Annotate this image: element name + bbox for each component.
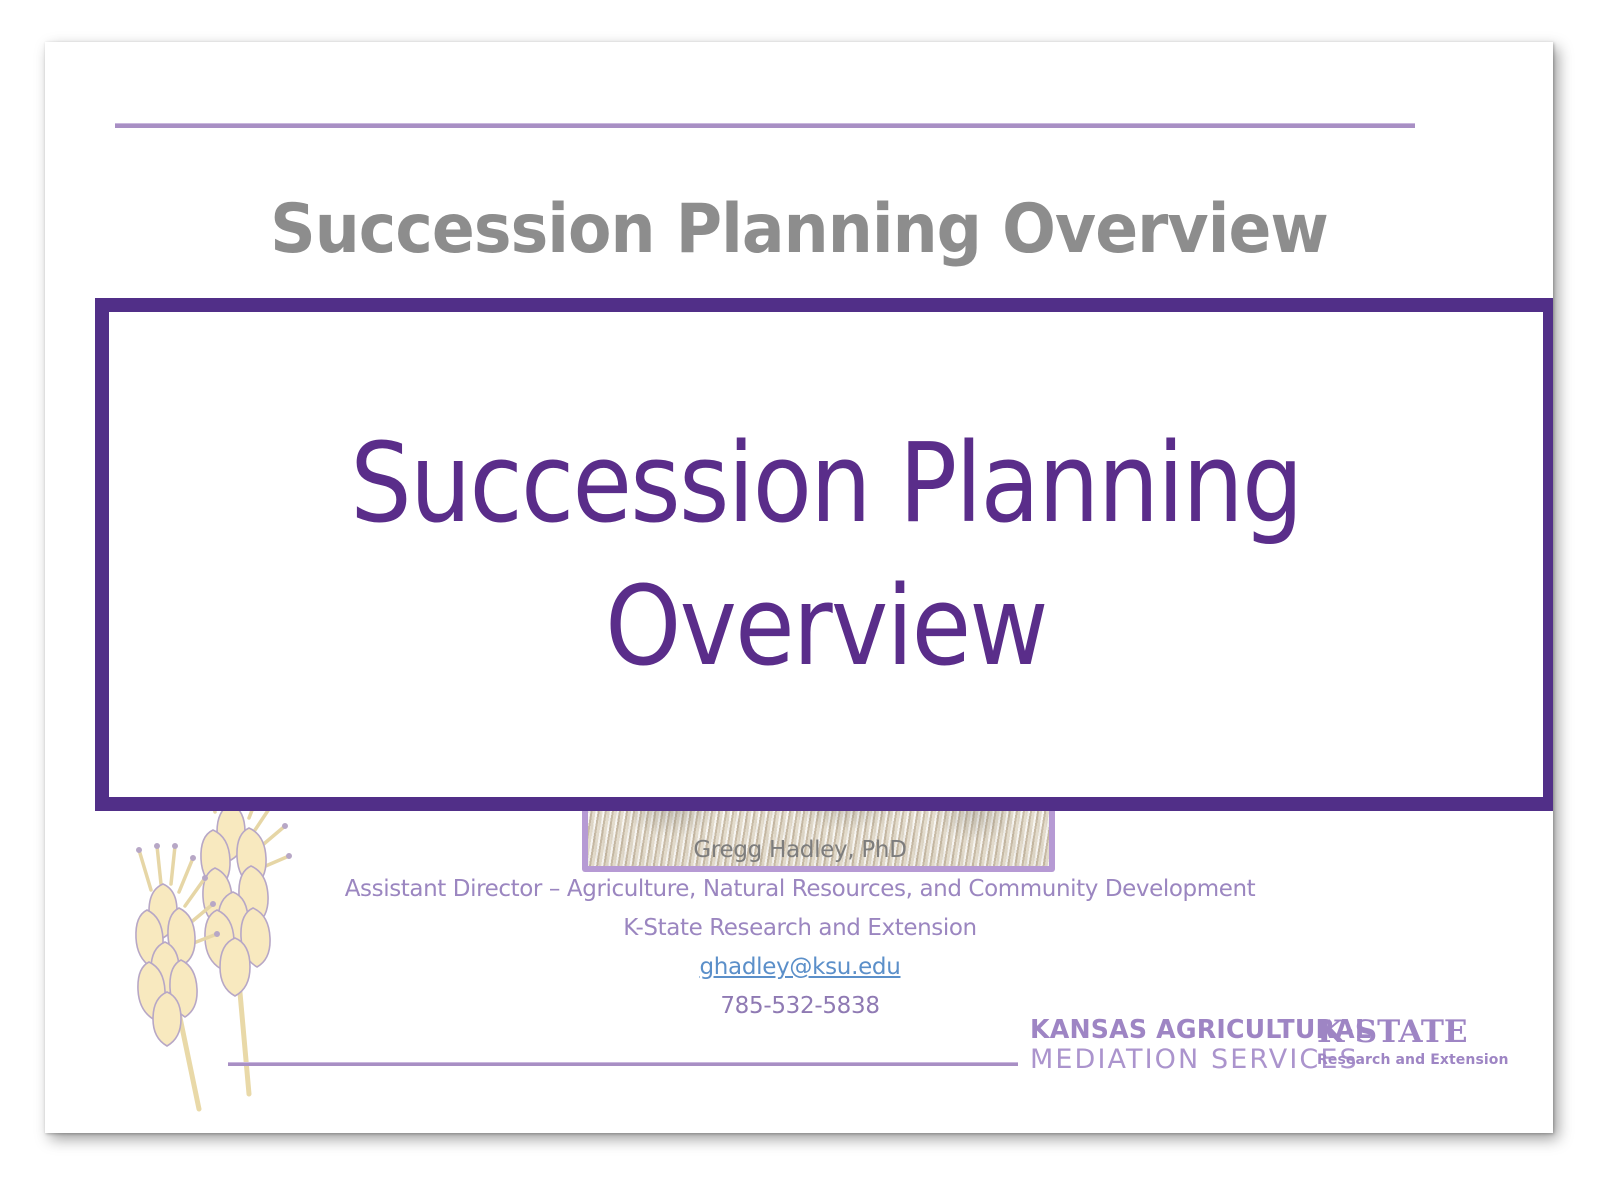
presentation-slide: Succession Planning Overview — [45, 42, 1553, 1133]
presenter-organization: K-State Research and Extension — [245, 915, 1355, 941]
background-slide-title: Succession Planning Overview — [98, 190, 1500, 269]
kstate-logo-wordmark: K·STATE — [1317, 1017, 1509, 1048]
presenter-email-link[interactable]: ghadley@ksu.edu — [699, 954, 900, 980]
kstate-logo: K·STATE Research and Extension — [1317, 1017, 1509, 1067]
top-divider-rule — [115, 123, 1415, 128]
screenshot-canvas: Succession Planning Overview — [0, 0, 1600, 1200]
presenter-info-block: Gregg Hadley, PhD Assistant Director – A… — [245, 837, 1355, 1019]
presenter-name: Gregg Hadley, PhD — [245, 837, 1355, 863]
overlay-title: Succession Planning Overview — [195, 412, 1457, 698]
overlay-title-line1: Succession Planning — [195, 412, 1457, 555]
overlay-title-line2: Overview — [195, 555, 1457, 698]
presenter-role: Assistant Director – Agriculture, Natura… — [245, 876, 1355, 902]
title-overlay-box: Succession Planning Overview — [95, 298, 1553, 811]
bottom-divider-rule — [228, 1062, 1018, 1066]
kstate-logo-tagline: Research and Extension — [1317, 1053, 1509, 1067]
